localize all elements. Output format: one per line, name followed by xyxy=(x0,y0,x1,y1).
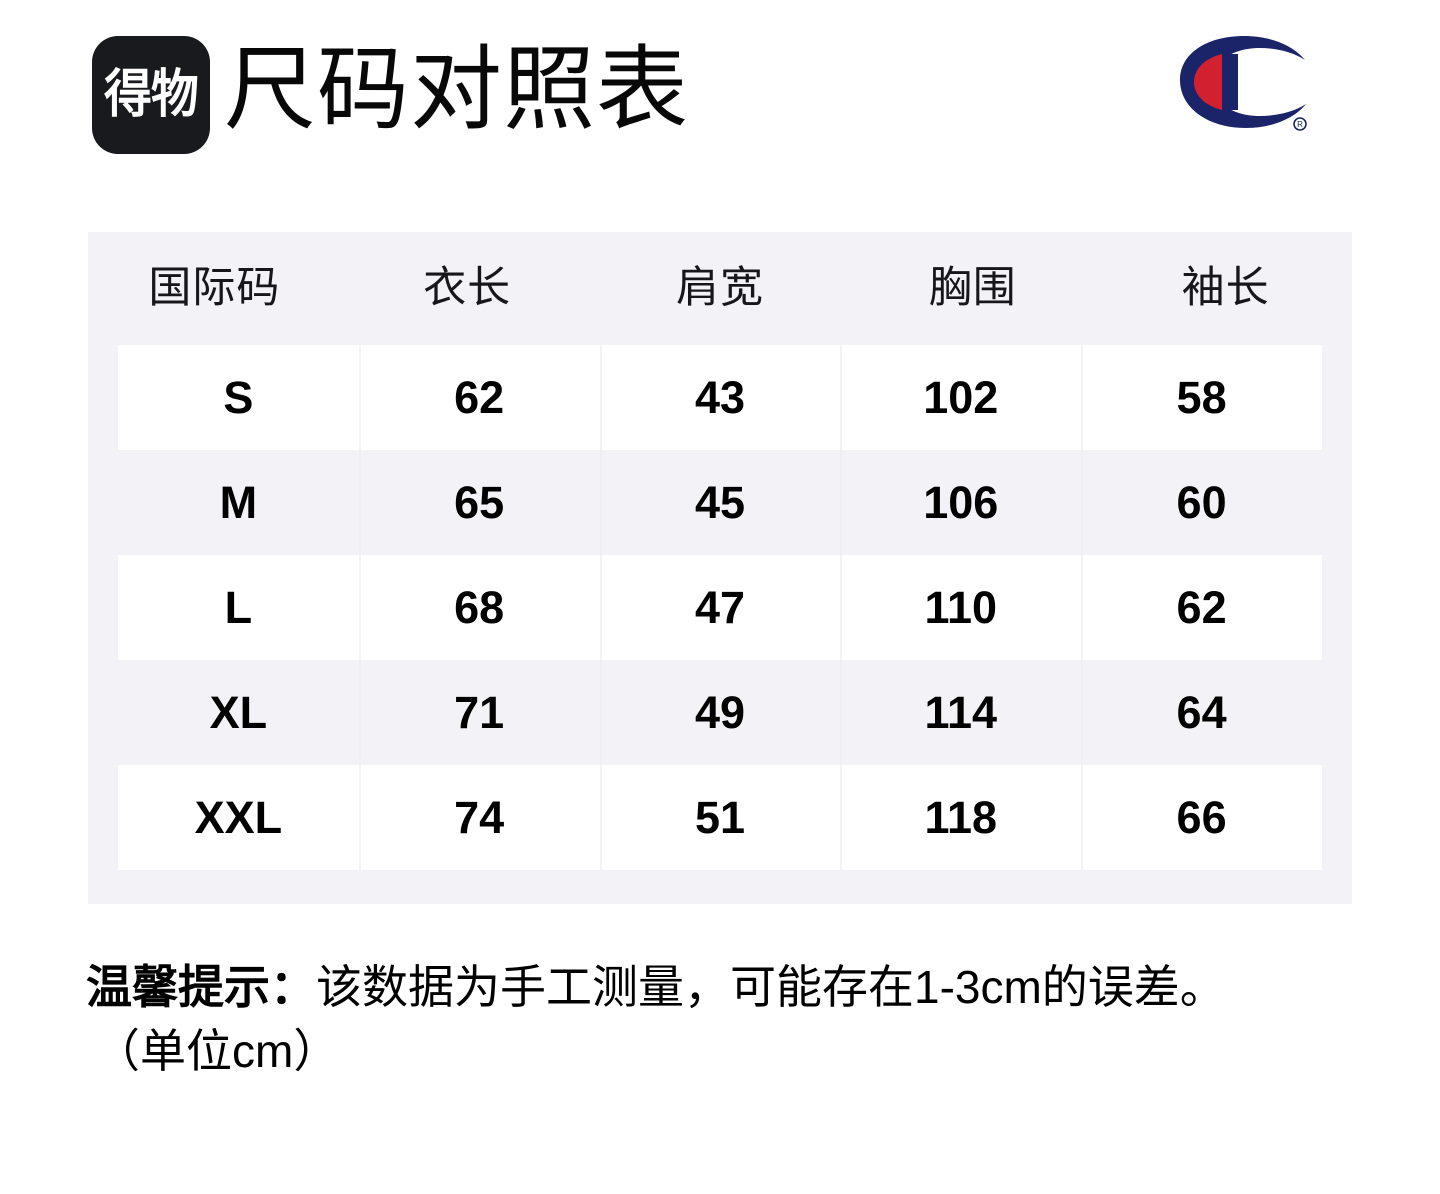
cell-chest: 114 xyxy=(840,660,1081,765)
cell-sleeve: 64 xyxy=(1081,660,1322,765)
table-header-row: 国际码 衣长 肩宽 胸围 袖长 xyxy=(88,232,1352,345)
svg-text:R: R xyxy=(1297,120,1303,129)
cell-shoulder: 45 xyxy=(600,450,841,555)
table-row: L 68 47 110 62 xyxy=(118,555,1322,660)
cell-length: 65 xyxy=(359,450,600,555)
column-header-length: 衣长 xyxy=(341,267,594,310)
table-row: M 65 45 106 60 xyxy=(118,450,1322,555)
size-chart-table: 国际码 衣长 肩宽 胸围 袖长 xyxy=(88,232,1352,345)
table-row: S 62 43 102 58 xyxy=(118,345,1322,450)
column-header-chest: 胸围 xyxy=(846,267,1099,310)
cell-sleeve: 66 xyxy=(1081,765,1322,870)
table-body: S 62 43 102 58 M 65 45 106 60 L 68 47 11… xyxy=(118,345,1322,870)
note-body: 该数据为手工测量，可能存在1-3cm的误差。 xyxy=(316,961,1226,1013)
column-header-shoulder: 肩宽 xyxy=(594,267,847,310)
cell-shoulder: 47 xyxy=(600,555,841,660)
cell-chest: 106 xyxy=(840,450,1081,555)
column-header-sleeve: 袖长 xyxy=(1099,267,1352,310)
cell-length: 68 xyxy=(359,555,600,660)
table-row: XXL 74 51 118 66 xyxy=(118,765,1322,870)
cell-chest: 118 xyxy=(840,765,1081,870)
cell-size: S xyxy=(118,345,359,450)
cell-chest: 110 xyxy=(840,555,1081,660)
cell-length: 74 xyxy=(359,765,600,870)
cell-sleeve: 62 xyxy=(1081,555,1322,660)
note-unit: （单位cm） xyxy=(86,1019,1356,1083)
note-label: 温馨提示： xyxy=(86,961,316,1013)
cell-length: 71 xyxy=(359,660,600,765)
cell-shoulder: 51 xyxy=(600,765,841,870)
dewu-logo-label: 得物 xyxy=(104,69,198,121)
cell-shoulder: 43 xyxy=(600,345,841,450)
cell-size: M xyxy=(118,450,359,555)
column-header-size: 国际码 xyxy=(88,267,341,310)
page-title: 尺码对照表 xyxy=(224,30,689,150)
measurement-note: 温馨提示：该数据为手工测量，可能存在1-3cm的误差。 （单位cm） xyxy=(86,955,1356,1083)
cell-shoulder: 49 xyxy=(600,660,841,765)
cell-sleeve: 58 xyxy=(1081,345,1322,450)
table-row: XL 71 49 114 64 xyxy=(118,660,1322,765)
cell-length: 62 xyxy=(359,345,600,450)
cell-size: XXL xyxy=(118,765,359,870)
size-chart-panel: 国际码 衣长 肩宽 胸围 袖长 S 62 43 102 58 M 65 45 1… xyxy=(88,232,1352,904)
cell-size: XL xyxy=(118,660,359,765)
cell-size: L xyxy=(118,555,359,660)
cell-sleeve: 60 xyxy=(1081,450,1322,555)
cell-chest: 102 xyxy=(840,345,1081,450)
champion-logo-icon: R xyxy=(1176,32,1312,136)
dewu-logo-icon: 得物 xyxy=(92,36,210,154)
page-header: 得物 尺码对照表 R xyxy=(0,0,1440,180)
